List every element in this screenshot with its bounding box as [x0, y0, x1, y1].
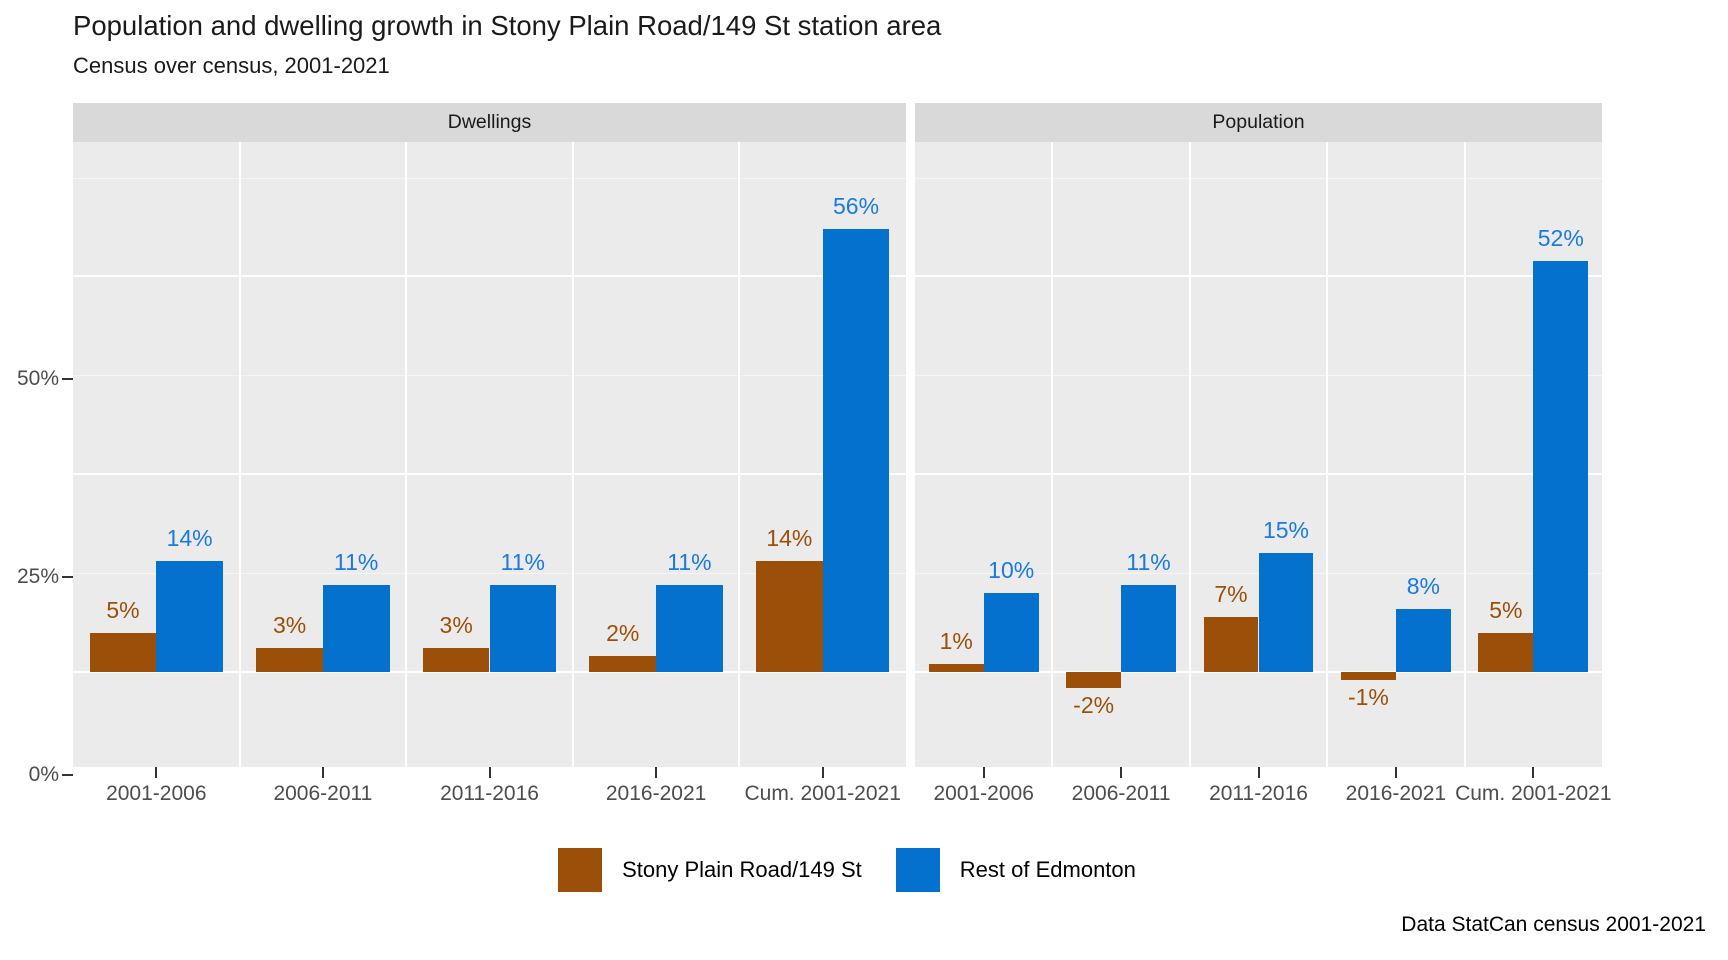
x-tick-mark: [1532, 767, 1534, 778]
x-tick-label: 2001-2006: [106, 782, 206, 806]
y-tick-label: 50%: [17, 367, 59, 391]
chart-legend: Stony Plain Road/149 StRest of Edmonton: [0, 848, 1728, 892]
bar-rest-of-edmonton[interactable]: [1121, 585, 1176, 672]
bar-value-label: 11%: [1126, 549, 1170, 576]
facet-population: Population 1%10%-2%11%7%15%-1%8%5%52% 20…: [915, 103, 1602, 803]
x-tick-mark: [1258, 767, 1260, 778]
chart-subtitle: Census over census, 2001-2021: [73, 52, 390, 79]
bar-value-label: -1%: [1348, 684, 1389, 711]
x-tick-label: 2016-2021: [1346, 782, 1446, 806]
gridline-vertical: [572, 142, 574, 767]
bar-rest-of-edmonton[interactable]: [1396, 609, 1451, 672]
x-tick-label: Cum. 2001-2021: [744, 782, 900, 806]
legend-entry[interactable]: Rest of Edmonton: [896, 848, 1170, 892]
x-tick-label: 2011-2016: [440, 782, 539, 806]
bar-value-label: 14%: [766, 525, 812, 552]
bar-value-label: 3%: [440, 612, 473, 639]
bar-value-label: 1%: [940, 628, 973, 655]
bar-rest-of-edmonton[interactable]: [984, 593, 1039, 672]
chart-caption: Data StatCan census 2001-2021: [1401, 913, 1706, 937]
gridline-major: [73, 275, 906, 277]
bar-rest-of-edmonton[interactable]: [490, 585, 557, 672]
bar-rest-of-edmonton[interactable]: [156, 561, 223, 672]
bar-value-label: 7%: [1214, 581, 1247, 608]
bar-value-label: 11%: [501, 549, 545, 576]
gridline-minor: [915, 178, 1602, 179]
bar-value-label: 5%: [106, 597, 139, 624]
x-tick-mark: [983, 767, 985, 778]
legend-label: Rest of Edmonton: [960, 857, 1136, 883]
bar-stony-plain-road-149-st[interactable]: [90, 633, 157, 673]
facet-strip-label: Dwellings: [448, 111, 531, 134]
x-tick-mark: [655, 767, 657, 778]
bar-stony-plain-road-149-st[interactable]: [929, 664, 984, 672]
panel-dwellings: 5%14%3%11%3%11%2%11%14%56%: [73, 142, 906, 767]
bar-value-label: 11%: [334, 549, 378, 576]
bar-stony-plain-road-149-st[interactable]: [1066, 672, 1121, 688]
x-tick-mark: [155, 767, 157, 778]
gridline-major: [915, 275, 1602, 277]
bar-value-label: 2%: [606, 620, 639, 647]
bar-rest-of-edmonton[interactable]: [1259, 553, 1314, 672]
y-tick-mark: [62, 774, 73, 776]
bar-rest-of-edmonton[interactable]: [323, 585, 390, 672]
gridline-vertical: [239, 142, 241, 767]
bar-stony-plain-road-149-st[interactable]: [423, 648, 490, 672]
bar-value-label: 15%: [1263, 517, 1309, 544]
y-axis: 0%25%50%: [0, 245, 73, 870]
bar-rest-of-edmonton[interactable]: [1533, 261, 1588, 672]
bar-value-label: 3%: [273, 612, 306, 639]
facet-dwellings: Dwellings 5%14%3%11%3%11%2%11%14%56% 200…: [73, 103, 906, 803]
bar-stony-plain-road-149-st[interactable]: [1341, 672, 1396, 680]
plot-area: 0%25%50% Dwellings 5%14%3%11%3%11%2%11%1…: [0, 103, 1728, 803]
bar-value-label: 52%: [1538, 225, 1584, 252]
bar-value-label: 5%: [1489, 597, 1522, 624]
gridline-major: [73, 473, 906, 475]
bar-value-label: 14%: [167, 525, 213, 552]
x-tick-mark: [489, 767, 491, 778]
legend-swatch: [896, 848, 940, 892]
bar-stony-plain-road-149-st[interactable]: [589, 656, 656, 672]
x-tick-label: 2001-2006: [933, 782, 1033, 806]
bar-stony-plain-road-149-st[interactable]: [1478, 633, 1533, 673]
gridline-vertical: [738, 142, 740, 767]
legend-swatch: [558, 848, 602, 892]
bar-rest-of-edmonton[interactable]: [823, 229, 890, 672]
panel-population: 1%10%-2%11%7%15%-1%8%5%52%: [915, 142, 1602, 767]
facet-strip-population: Population: [915, 103, 1602, 142]
bar-stony-plain-road-149-st[interactable]: [256, 648, 323, 672]
bar-value-label: 10%: [988, 557, 1034, 584]
gridline-vertical: [1464, 142, 1466, 767]
gridline-minor: [915, 375, 1602, 376]
x-tick-mark: [822, 767, 824, 778]
bar-value-label: 56%: [833, 193, 879, 220]
chart-title: Population and dwelling growth in Stony …: [73, 9, 941, 42]
x-tick-label: 2006-2011: [273, 782, 372, 806]
bar-stony-plain-road-149-st[interactable]: [756, 561, 823, 672]
bar-rest-of-edmonton[interactable]: [656, 585, 723, 672]
x-tick-mark: [322, 767, 324, 778]
x-axis-population: 2001-20062006-20112011-20162016-2021Cum.…: [915, 767, 1602, 817]
x-axis-dwellings: 2001-20062006-20112011-20162016-2021Cum.…: [73, 767, 906, 817]
bar-value-label: 11%: [667, 549, 711, 576]
gridline-vertical: [1326, 142, 1328, 767]
gridline-major: [915, 473, 1602, 475]
bar-value-label: -2%: [1073, 692, 1114, 719]
x-tick-mark: [1395, 767, 1397, 778]
bar-value-label: 8%: [1407, 573, 1440, 600]
y-tick-mark: [62, 378, 73, 380]
bar-stony-plain-road-149-st[interactable]: [1204, 617, 1259, 672]
legend-entry[interactable]: Stony Plain Road/149 St: [558, 848, 896, 892]
gridline-minor: [73, 375, 906, 376]
x-tick-label: Cum. 2001-2021: [1455, 782, 1611, 806]
legend-label: Stony Plain Road/149 St: [622, 857, 862, 883]
facet-strip-dwellings: Dwellings: [73, 103, 906, 142]
x-tick-mark: [1120, 767, 1122, 778]
y-tick-mark: [62, 576, 73, 578]
x-tick-label: 2011-2016: [1209, 782, 1308, 806]
y-tick-label: 0%: [29, 763, 59, 787]
gridline-vertical: [1051, 142, 1053, 767]
y-tick-label: 25%: [17, 565, 59, 589]
x-tick-label: 2016-2021: [606, 782, 706, 806]
x-tick-label: 2006-2011: [1072, 782, 1171, 806]
gridline-vertical: [405, 142, 407, 767]
gridline-vertical: [1189, 142, 1191, 767]
gridline-minor: [73, 178, 906, 179]
facet-strip-label: Population: [1212, 111, 1304, 134]
